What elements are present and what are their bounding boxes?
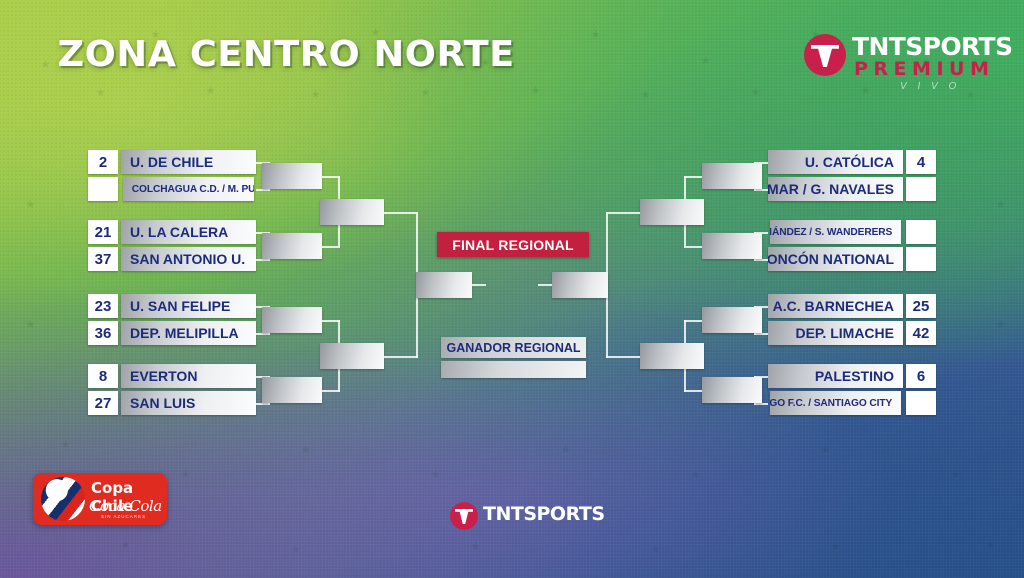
bracket-slot-r2[interactable] xyxy=(702,307,762,333)
star-icon: ★ xyxy=(690,470,701,481)
star-icon: ★ xyxy=(650,545,661,556)
star-icon: ★ xyxy=(290,545,301,556)
connector-line xyxy=(684,176,702,178)
connector-line xyxy=(754,403,768,405)
team-seed xyxy=(88,177,118,201)
star-icon: ★ xyxy=(590,30,601,41)
tnt-disc-icon-footer xyxy=(450,502,478,530)
team-row[interactable]: CONCÓN NATIONAL xyxy=(768,247,936,271)
tnt-sports-premium-logo: TNTSPORTS PREMIUM V I V O xyxy=(804,30,1004,96)
team-name: EVERTON xyxy=(121,364,256,388)
bracket-slot-r3[interactable] xyxy=(320,199,384,225)
team-row[interactable]: 42DEP. LIMACHE xyxy=(768,321,936,345)
star-icon: ★ xyxy=(820,445,831,456)
team-name: U. SAN FELIPE xyxy=(121,294,256,318)
star-icon: ★ xyxy=(640,90,651,101)
team-name: A.C. BARNECHEA xyxy=(768,294,903,318)
star-icon: ★ xyxy=(25,200,36,211)
team-seed: 25 xyxy=(906,294,936,318)
team-seed: 8 xyxy=(88,364,118,388)
team-row[interactable]: 6PALESTINO xyxy=(768,364,936,388)
team-name: SAN LUIS xyxy=(121,391,256,415)
team-seed: 37 xyxy=(88,247,118,271)
star-icon: ★ xyxy=(205,86,216,97)
star-icon: ★ xyxy=(560,445,571,456)
team-seed: 36 xyxy=(88,321,118,345)
team-row[interactable]: 25A.C. BARNECHEA xyxy=(768,294,936,318)
star-icon: ★ xyxy=(470,542,481,553)
team-row[interactable]: 37SAN ANTONIO U. xyxy=(88,247,256,271)
team-name: PALESTINO xyxy=(768,364,903,388)
star-icon: ★ xyxy=(430,470,441,481)
connector-line xyxy=(754,189,768,191)
tnt-premium-label: PREMIUM xyxy=(854,58,994,80)
team-name: DEP. LIMACHE xyxy=(768,321,903,345)
star-icon: ★ xyxy=(420,88,431,99)
star-icon: ★ xyxy=(830,542,841,553)
bracket-slot-r3[interactable] xyxy=(640,199,704,225)
tnt-vivo-label: V I V O xyxy=(900,81,960,92)
star-icon: ★ xyxy=(700,56,711,67)
bracket-slot-semifinal-left[interactable] xyxy=(416,272,472,298)
team-row[interactable]: 27SAN LUIS xyxy=(88,391,256,415)
team-seed: 42 xyxy=(906,321,936,345)
connector-line xyxy=(754,333,768,335)
connector-line xyxy=(684,246,702,248)
bracket-slot-r2[interactable] xyxy=(262,377,322,403)
connector-line xyxy=(684,320,702,322)
copa-chile-logo: Copa Chile Coca-Cola SIN AZUCARES xyxy=(33,473,167,525)
bracket-slot-r2[interactable] xyxy=(262,307,322,333)
star-icon: ★ xyxy=(985,540,996,551)
team-seed xyxy=(906,391,936,415)
team-name: U. LA CALERA xyxy=(121,220,256,244)
connector-line xyxy=(606,356,640,358)
connector-line xyxy=(472,284,486,286)
tnt-sports-logo-footer: TNTSPORTS xyxy=(450,500,590,532)
team-row[interactable]: 21U. LA CALERA xyxy=(88,220,256,244)
team-seed: 2 xyxy=(88,150,118,174)
team-name: J. FERNÁNDEZ / S. WANDERERS xyxy=(770,220,901,244)
team-row[interactable]: MIRAMAR / G. NAVALES xyxy=(768,177,936,201)
team-row[interactable]: 23U. SAN FELIPE xyxy=(88,294,256,318)
team-seed: 4 xyxy=(906,150,936,174)
team-seed: 6 xyxy=(906,364,936,388)
star-icon: ★ xyxy=(310,90,321,101)
connector-line xyxy=(538,284,552,286)
team-row[interactable]: 4U. CATÓLICA xyxy=(768,150,936,174)
tnt-wordmark-footer: TNTSPORTS xyxy=(483,503,605,525)
tnt-disc-icon xyxy=(804,34,846,76)
star-icon: ★ xyxy=(180,470,191,481)
tnt-wordmark: TNTSPORTS xyxy=(852,32,1012,61)
star-icon: ★ xyxy=(300,445,311,456)
final-regional-banner: FINAL REGIONAL xyxy=(437,232,589,257)
team-row[interactable]: COLCHAGUA C.D. / M. PUENTE ALTO xyxy=(88,177,256,201)
team-seed: 27 xyxy=(88,391,118,415)
team-name: COLCHAGUA C.D. / M. PUENTE ALTO xyxy=(123,177,254,201)
team-name: CHIMBARONGO F.C. / SANTIAGO CITY xyxy=(770,391,901,415)
coca-cola-wordmark: Coca-Cola xyxy=(89,497,162,515)
bracket-slot-semifinal-right[interactable] xyxy=(552,272,608,298)
star-icon: ★ xyxy=(530,86,541,97)
star-icon: ★ xyxy=(750,88,761,99)
team-row[interactable]: CHIMBARONGO F.C. / SANTIAGO CITY xyxy=(768,391,936,415)
bracket-slot-r2[interactable] xyxy=(702,377,762,403)
connector-line xyxy=(684,390,702,392)
connector-line xyxy=(606,212,640,214)
page-title: ZONA CENTRO NORTE xyxy=(58,34,515,75)
star-icon: ★ xyxy=(120,540,131,551)
bracket-slot-r3[interactable] xyxy=(640,343,704,369)
team-name: SAN ANTONIO U. xyxy=(121,247,256,271)
star-icon: ★ xyxy=(995,320,1006,331)
team-row[interactable]: 36DEP. MELIPILLA xyxy=(88,321,256,345)
team-row[interactable]: 2U. DE CHILE xyxy=(88,150,256,174)
star-icon: ★ xyxy=(40,60,51,71)
team-seed xyxy=(906,177,936,201)
star-icon: ★ xyxy=(950,470,961,481)
ganador-regional-slot xyxy=(441,361,586,378)
team-row[interactable]: J. FERNÁNDEZ / S. WANDERERS xyxy=(768,220,936,244)
team-name: CONCÓN NATIONAL xyxy=(768,247,903,271)
bracket-slot-r2[interactable] xyxy=(262,233,322,259)
connector-line xyxy=(384,356,418,358)
star-icon: ★ xyxy=(995,200,1006,211)
team-seed xyxy=(906,220,936,244)
coca-cola-subtext: SIN AZUCARES xyxy=(101,514,146,519)
team-name: U. DE CHILE xyxy=(121,150,256,174)
team-row[interactable]: 8EVERTON xyxy=(88,364,256,388)
team-name: DEP. MELIPILLA xyxy=(121,321,256,345)
ganador-regional-label: GANADOR REGIONAL xyxy=(441,337,586,358)
team-name: MIRAMAR / G. NAVALES xyxy=(768,177,903,201)
bracket-slot-r3[interactable] xyxy=(320,343,384,369)
connector-line xyxy=(384,212,418,214)
connector-line xyxy=(754,259,768,261)
star-icon: ★ xyxy=(95,88,106,99)
team-name: U. CATÓLICA xyxy=(768,150,903,174)
star-icon: ★ xyxy=(25,320,36,331)
copa-chile-ball-icon xyxy=(41,477,85,521)
bracket-slot-r2[interactable] xyxy=(262,163,322,189)
team-seed: 23 xyxy=(88,294,118,318)
star-icon: ★ xyxy=(60,440,71,451)
team-seed: 21 xyxy=(88,220,118,244)
bracket-slot-r2[interactable] xyxy=(702,163,762,189)
bracket-slot-r2[interactable] xyxy=(702,233,762,259)
team-seed xyxy=(906,247,936,271)
